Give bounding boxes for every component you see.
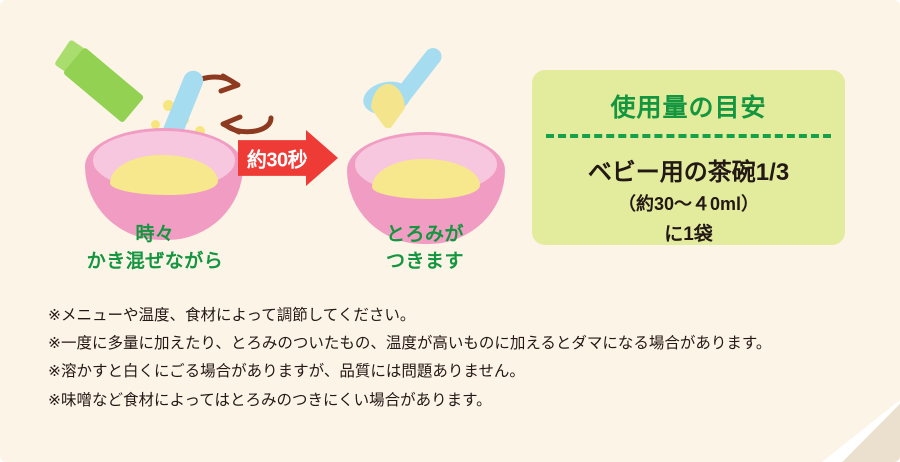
usage-guide-divider xyxy=(546,134,831,138)
thickened-food-drip-icon xyxy=(371,84,405,128)
usage-amount-line-1: ベビー用の茶碗1/3 xyxy=(588,152,789,187)
footnote-item: ※一度に多量に加えたり、とろみのついたもの、温度が高いものに加えるとダマになる場… xyxy=(48,330,858,358)
powder-stick-body-icon xyxy=(63,47,145,123)
footnote-list: ※メニューや温度、食材によって調節してください。 ※一度に多量に加えたり、とろみ… xyxy=(48,302,858,415)
usage-guide-title: 使用量の目安 xyxy=(610,88,766,124)
footnote-item: ※溶かすと白くにごる場合がありますが、品質には問題ありません。 xyxy=(48,358,858,386)
usage-amount-line-2: （約30〜４0ml） xyxy=(618,190,759,216)
powder-stick-icon xyxy=(52,38,144,123)
footnote-item: ※味噌など食材によってはとろみのつきにくい場合があります。 xyxy=(48,387,858,415)
duration-arrow: 約30秒 xyxy=(238,130,338,186)
step-1-caption: 時々 かき混ぜながら xyxy=(30,222,280,276)
usage-amount-line-3: に1袋 xyxy=(664,219,713,246)
usage-guide-box: 使用量の目安 ベビー用の茶碗1/3 （約30〜４0ml） に1袋 xyxy=(532,70,845,245)
step-2-caption: とろみが つきます xyxy=(330,222,520,276)
duration-label: 約30秒 xyxy=(242,144,312,173)
instruction-graphic: 約30秒 時々 かき混ぜながら とろみが つきます 使用量の目安 ベビー用の茶碗… xyxy=(0,0,900,462)
footnote-item: ※メニューや温度、食材によって調節してください。 xyxy=(48,302,858,330)
